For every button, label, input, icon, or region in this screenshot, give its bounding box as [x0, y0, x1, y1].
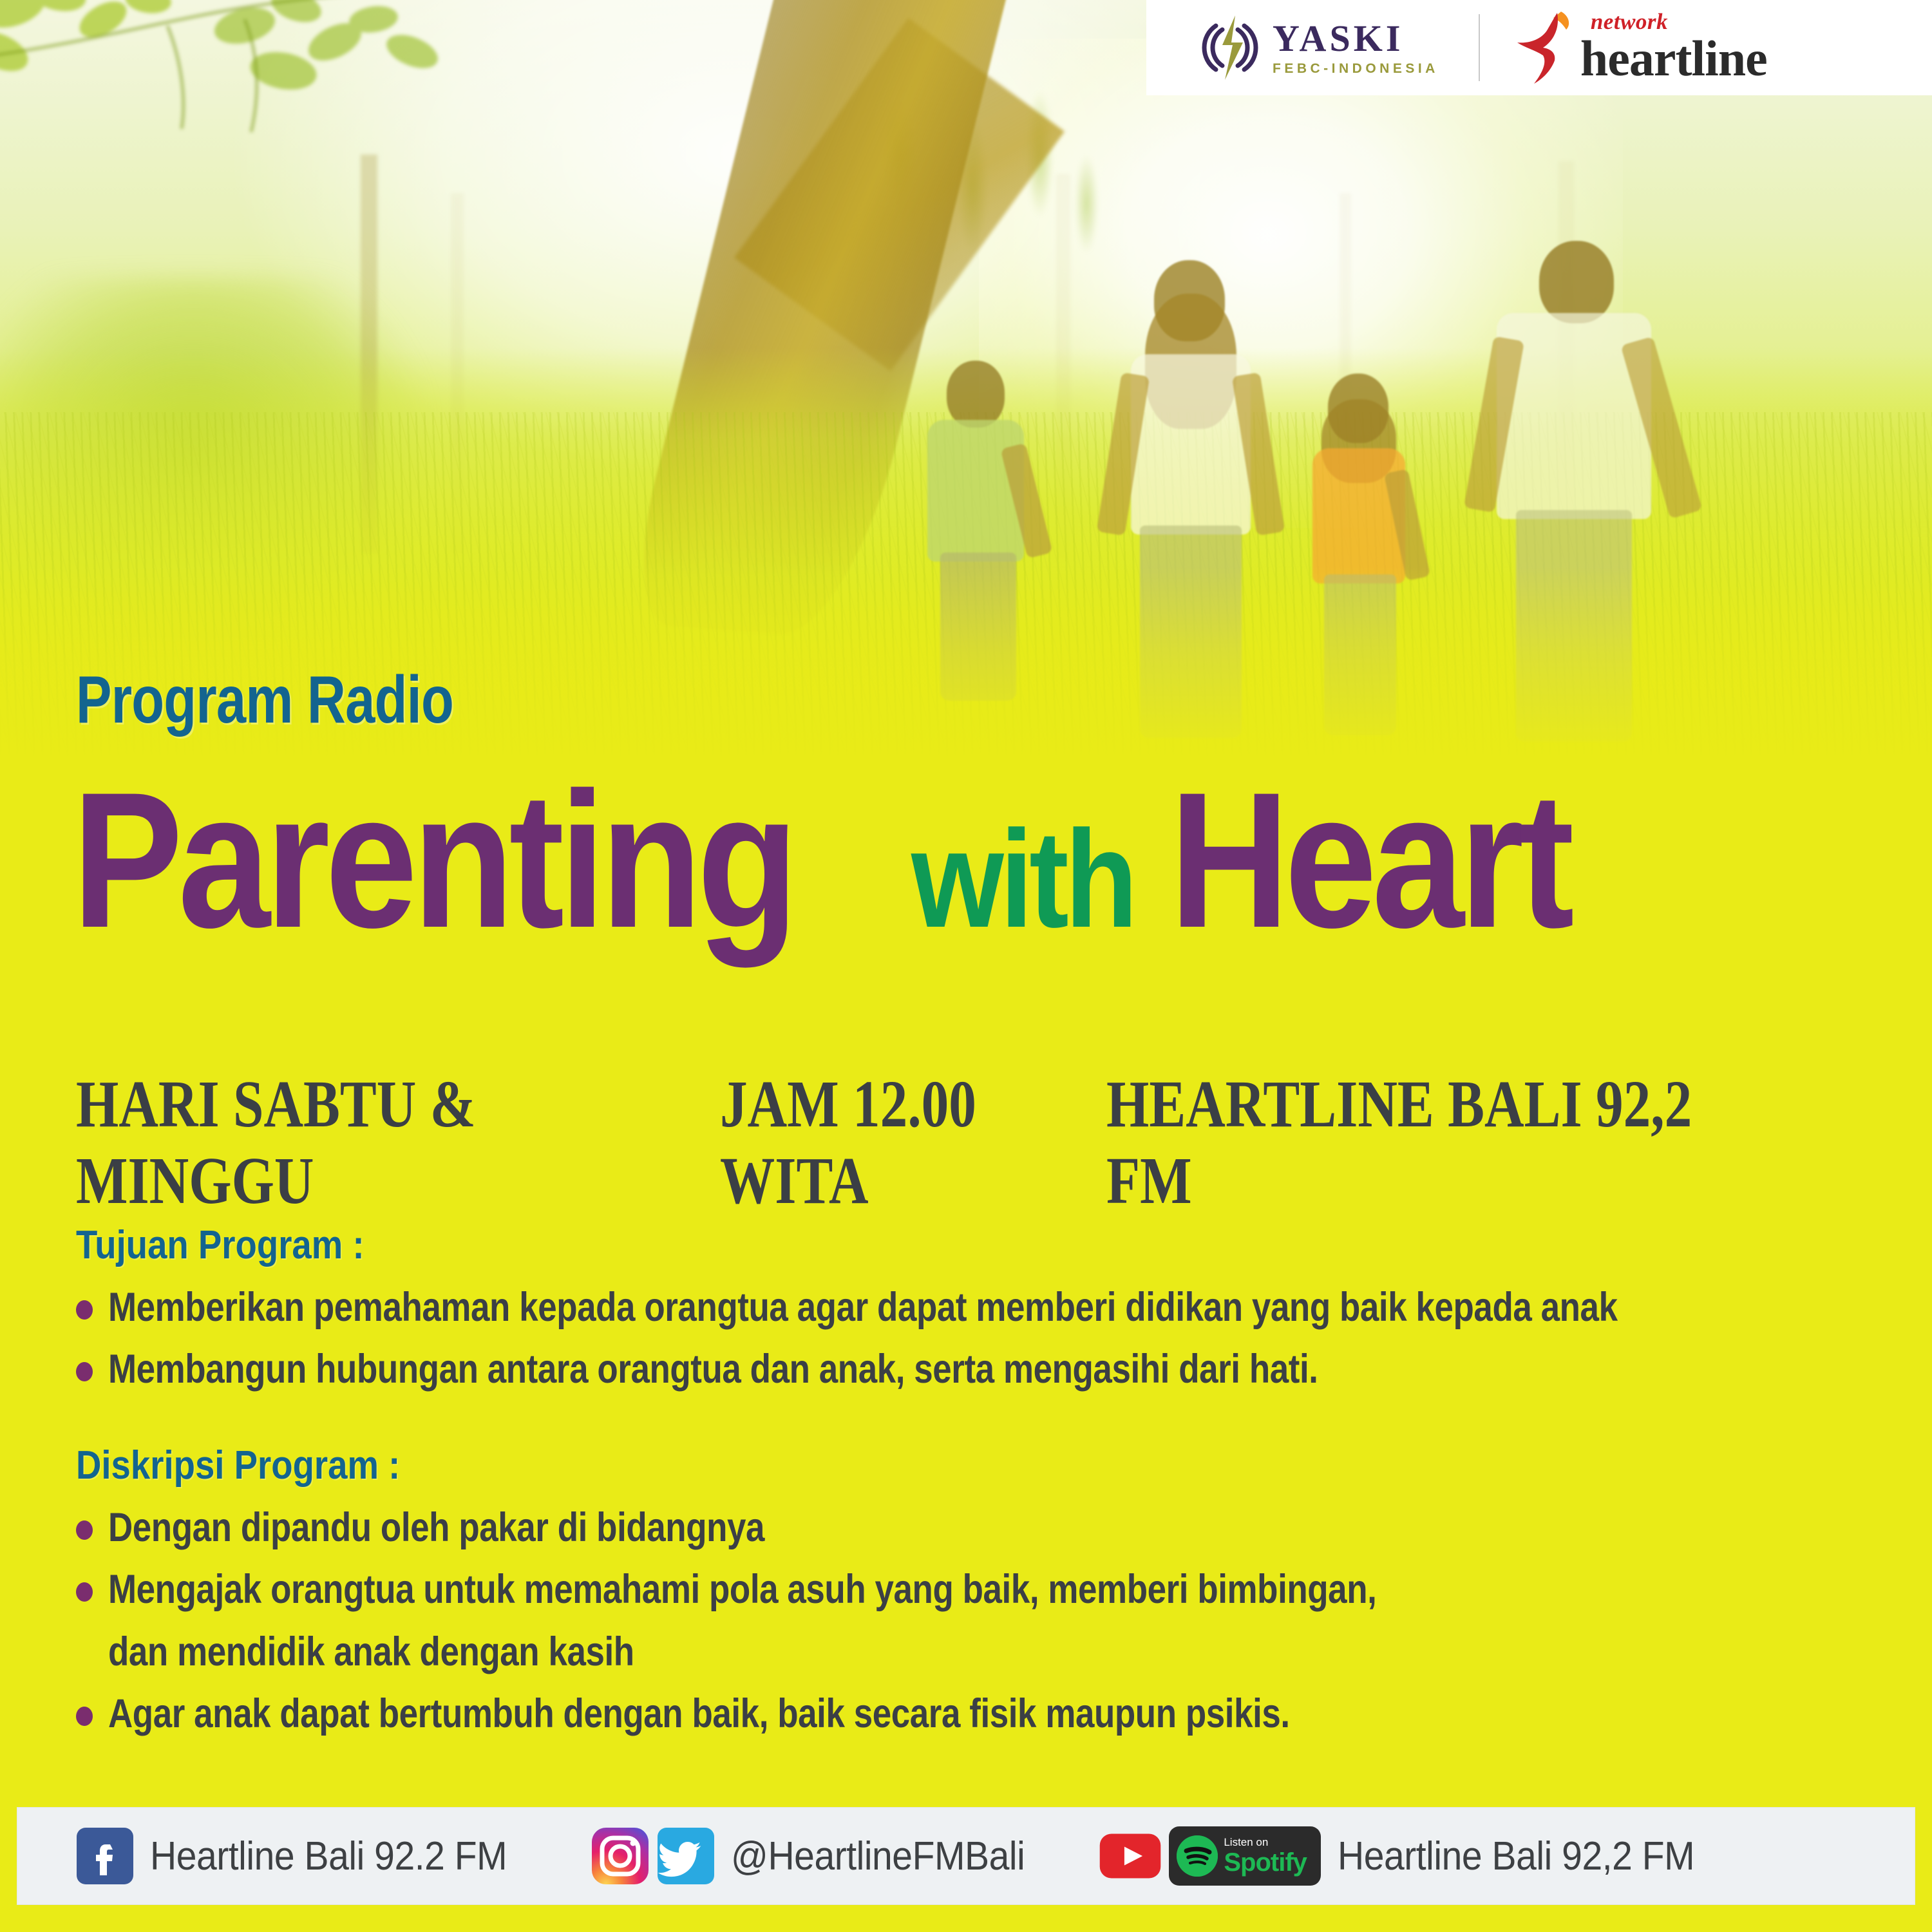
social-footer: Heartline Bali 92.2 FM: [17, 1807, 1915, 1905]
heartline-logo: network heartline: [1515, 10, 1767, 85]
heartline-wordmark: network heartline: [1580, 12, 1767, 84]
title-parenting: Parenting: [72, 763, 793, 956]
page-title: ParentingwithHeart: [72, 763, 1888, 956]
bullet-dot-icon: [76, 1520, 93, 1540]
section-diskripsi: Diskripsi Program : Dengan dipandu oleh …: [76, 1443, 1892, 1752]
canopy-leaves-icon: [0, 0, 618, 193]
facebook-label: Heartline Bali 92.2 FM: [150, 1833, 507, 1879]
spotify-name: Spotify: [1224, 1850, 1307, 1875]
bullet-text: Membangun hubungan antara orangtua dan a…: [108, 1345, 1318, 1393]
spotify-label: Heartline Bali 92,2 FM: [1338, 1833, 1694, 1879]
twitter-label: @HeartlineFMBali: [731, 1833, 1025, 1879]
twitter-icon[interactable]: [658, 1828, 714, 1884]
list-item-continuation: dan mendidik anak dengan kasih: [76, 1628, 1892, 1676]
spotify-wordmark: Listen on Spotify: [1224, 1837, 1307, 1875]
instagram-twitter-group[interactable]: @HeartlineFMBali: [592, 1828, 1050, 1884]
bullet-dot-icon: [76, 1582, 93, 1602]
title-heart: Heart: [1170, 763, 1569, 956]
section-tujuan: Tujuan Program : Memberikan pemahaman ke…: [76, 1222, 1892, 1408]
radio-wave-lightning-icon: [1197, 14, 1264, 81]
yaski-subtitle: FEBC-INDONESIA: [1273, 62, 1439, 75]
schedule-days: HARI SABTU & MINGGU: [76, 1066, 604, 1219]
list-item: Memberikan pemahaman kepada orangtua aga…: [76, 1283, 1892, 1331]
kicker-text: Program Radio: [76, 662, 453, 739]
bullet-text: Mengajak orangtua untuk memahami pola as…: [108, 1566, 1376, 1613]
schedule-station: HEARTLINE BALI 92,2 FM: [1106, 1066, 1740, 1219]
yaski-name: YASKI: [1273, 20, 1439, 57]
bullet-dot-icon: [76, 1300, 93, 1320]
list-item: Dengan dipandu oleh pakar di bidangnya: [76, 1504, 1892, 1551]
logo-bar: YASKI FEBC-INDONESIA network heartline: [1146, 0, 1932, 95]
title-with: with: [911, 810, 1134, 948]
bullet-text: Dengan dipandu oleh pakar di bidangnya: [108, 1504, 764, 1551]
bullet-text: dan mendidik anak dengan kasih: [108, 1628, 634, 1676]
schedule-time: JAM 12.00 WITA: [720, 1066, 1037, 1219]
logo-divider: [1479, 14, 1480, 81]
youtube-icon[interactable]: [1098, 1828, 1155, 1884]
bullet-text: Memberikan pemahaman kepada orangtua aga…: [108, 1283, 1618, 1331]
bullet-dot-icon: [76, 1707, 93, 1726]
bullet-dot-icon: [76, 1362, 93, 1381]
list-item: Mengajak orangtua untuk memahami pola as…: [76, 1566, 1892, 1613]
hero-photo: [0, 0, 1932, 760]
spotify-logo-mark: [1177, 1835, 1218, 1877]
spotify-listen-on: Listen on: [1224, 1837, 1307, 1848]
yaski-logo: YASKI FEBC-INDONESIA: [1146, 14, 1439, 81]
poster: YASKI FEBC-INDONESIA network heartline P…: [0, 0, 1932, 1932]
list-item: Agar anak dapat bertumbuh dengan baik, b…: [76, 1690, 1892, 1738]
facebook-icon[interactable]: [77, 1828, 133, 1884]
facebook-group[interactable]: Heartline Bali 92.2 FM: [77, 1828, 538, 1884]
yaski-wordmark: YASKI FEBC-INDONESIA: [1273, 20, 1439, 75]
heartline-network-label: network: [1591, 10, 1668, 33]
schedule-bar: HARI SABTU & MINGGU JAM 12.00 WITA HEART…: [76, 1066, 1879, 1219]
section-heading: Tujuan Program :: [76, 1222, 1674, 1268]
bullet-text: Agar anak dapat bertumbuh dengan baik, b…: [108, 1690, 1290, 1738]
youtube-spotify-group[interactable]: Listen on Spotify Heartline Bali 92,2 FM: [1098, 1826, 1725, 1886]
spotify-icon[interactable]: Listen on Spotify: [1169, 1826, 1321, 1886]
heartline-name: heartline: [1580, 33, 1767, 84]
instagram-icon[interactable]: [592, 1828, 649, 1884]
heartline-flame-icon: [1515, 10, 1577, 85]
section-heading: Diskripsi Program :: [76, 1443, 1674, 1488]
list-item: Membangun hubungan antara orangtua dan a…: [76, 1345, 1892, 1393]
